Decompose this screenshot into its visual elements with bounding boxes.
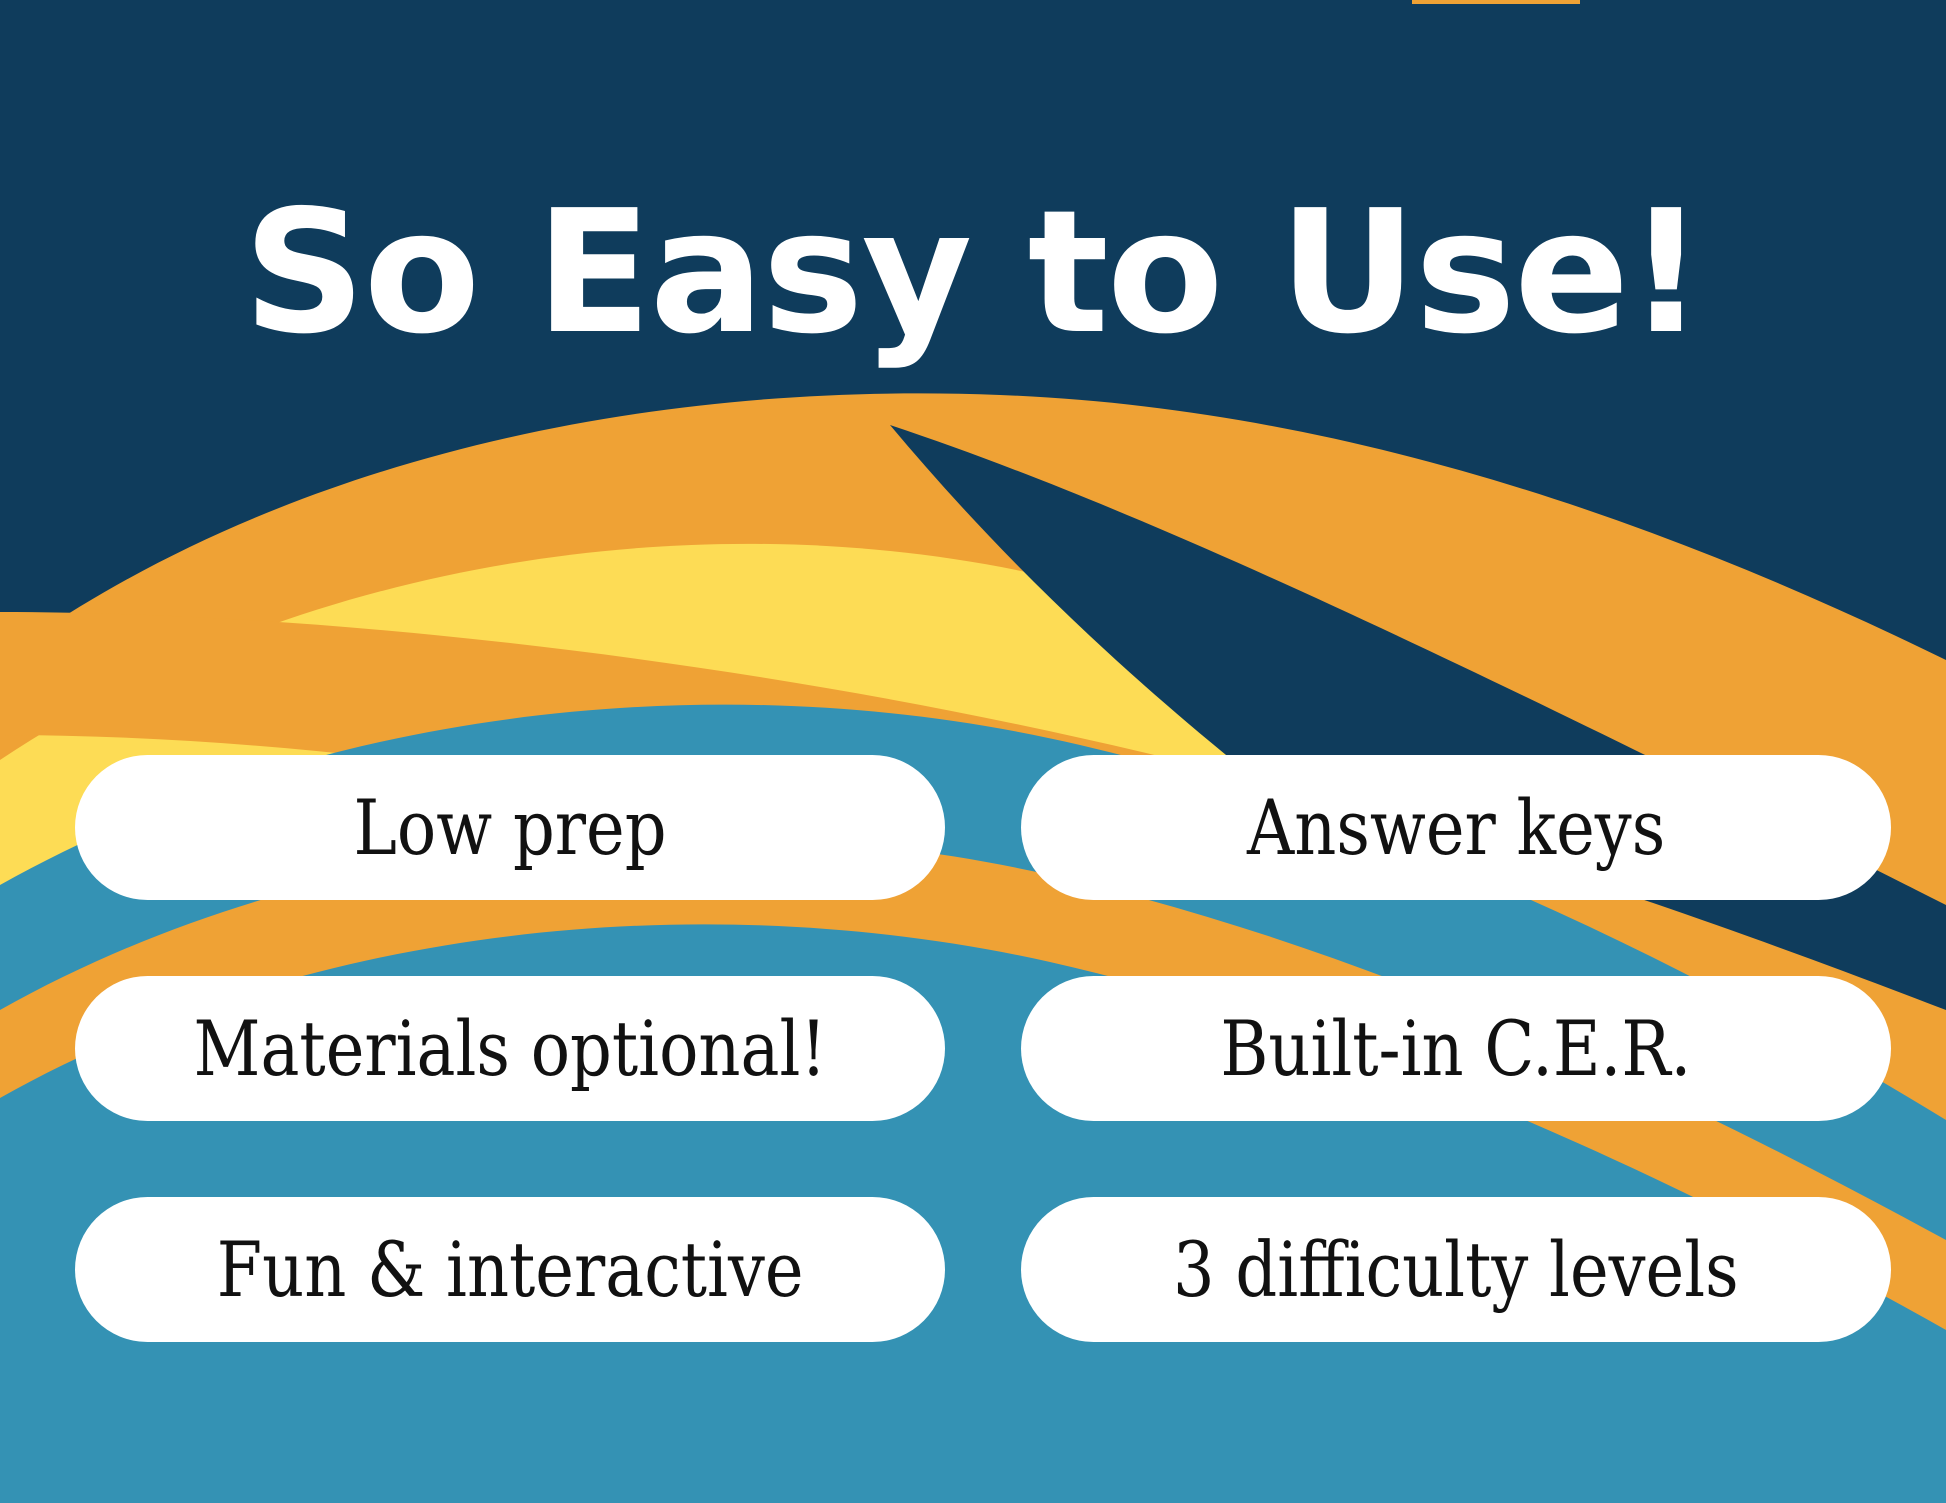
- feature-pill-grid: Low prep Answer keys Materials optional!…: [75, 755, 1891, 1342]
- feature-pill-three-difficulty-levels[interactable]: 3 difficulty levels: [1021, 1197, 1891, 1342]
- feature-pill-label: 3 difficulty levels: [1173, 1232, 1739, 1308]
- feature-pill-fun-interactive[interactable]: Fun & interactive: [75, 1197, 945, 1342]
- feature-pill-label: Built-in C.E.R.: [1220, 1011, 1691, 1087]
- feature-pill-label: Fun & interactive: [217, 1232, 804, 1308]
- feature-pill-low-prep[interactable]: Low prep: [75, 755, 945, 900]
- feature-pill-label: Materials optional!: [193, 1011, 826, 1087]
- slide-canvas: So Easy to Use! Low prep Answer keys Mat…: [0, 0, 1946, 1503]
- feature-pill-answer-keys[interactable]: Answer keys: [1021, 755, 1891, 900]
- page-title: So Easy to Use!: [0, 184, 1946, 363]
- feature-pill-built-in-cer[interactable]: Built-in C.E.R.: [1021, 976, 1891, 1121]
- top-orange-sliver: [1412, 0, 1580, 4]
- feature-pill-materials-optional[interactable]: Materials optional!: [75, 976, 945, 1121]
- feature-pill-label: Answer keys: [1247, 790, 1665, 866]
- feature-pill-label: Low prep: [353, 790, 666, 866]
